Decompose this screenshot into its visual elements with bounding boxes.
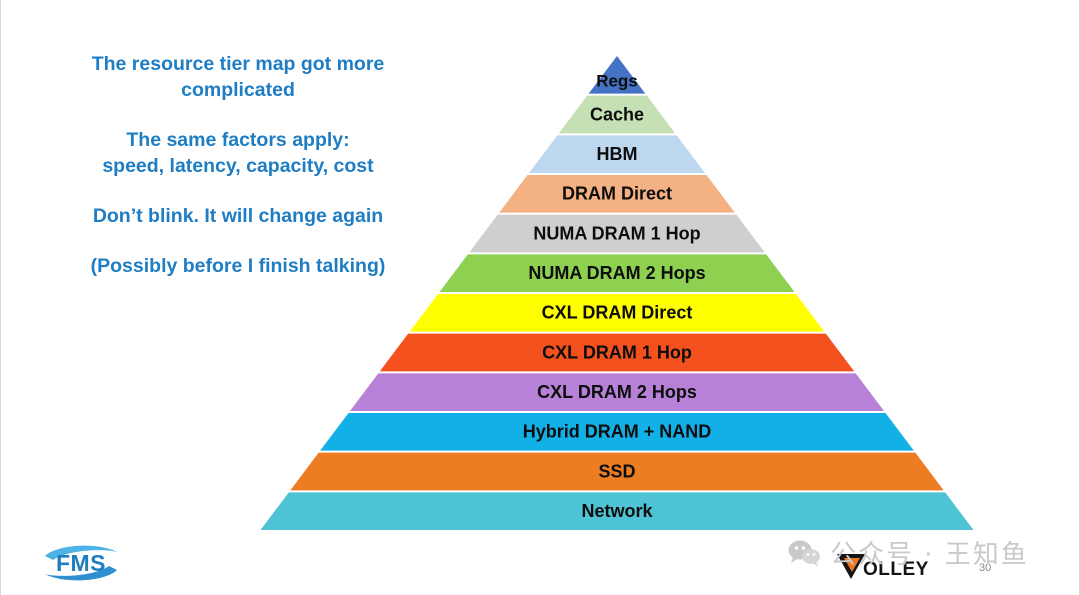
fms-logo: FMS <box>27 538 135 588</box>
resource-tier-pyramid: RegsCacheHBMDRAM DirectNUMA DRAM 1 HopNU… <box>249 50 989 540</box>
volley-wordmark: OLLEY <box>863 559 929 580</box>
pyramid-tier-group <box>261 56 974 530</box>
slide-canvas: The resource tier map got more complicat… <box>0 0 1080 595</box>
pyramid-tier-label: Cache <box>590 104 644 124</box>
fms-wordmark: FMS <box>56 550 106 576</box>
pyramid-tier-label: DRAM Direct <box>562 184 672 204</box>
wechat-icon <box>787 539 821 567</box>
pyramid-tier-label: HBM <box>597 144 638 164</box>
pyramid-tier-label: Hybrid DRAM + NAND <box>523 422 712 442</box>
pyramid-tier-label: CXL DRAM 2 Hops <box>537 382 697 402</box>
pyramid-svg: RegsCacheHBMDRAM DirectNUMA DRAM 1 HopNU… <box>249 50 989 540</box>
volley-logo: OLLEY <box>835 550 945 582</box>
page-number: 30 <box>979 562 991 574</box>
pyramid-tier-label: NUMA DRAM 1 Hop <box>533 223 700 243</box>
pyramid-tier-label: CXL DRAM Direct <box>542 303 693 323</box>
pyramid-tier-label: SSD <box>598 461 635 481</box>
pyramid-tier-label: Regs <box>596 71 638 90</box>
pyramid-tier-label: CXL DRAM 1 Hop <box>542 342 692 362</box>
pyramid-tier-label: NUMA DRAM 2 Hops <box>528 263 705 283</box>
pyramid-tier-label: Network <box>581 501 653 521</box>
